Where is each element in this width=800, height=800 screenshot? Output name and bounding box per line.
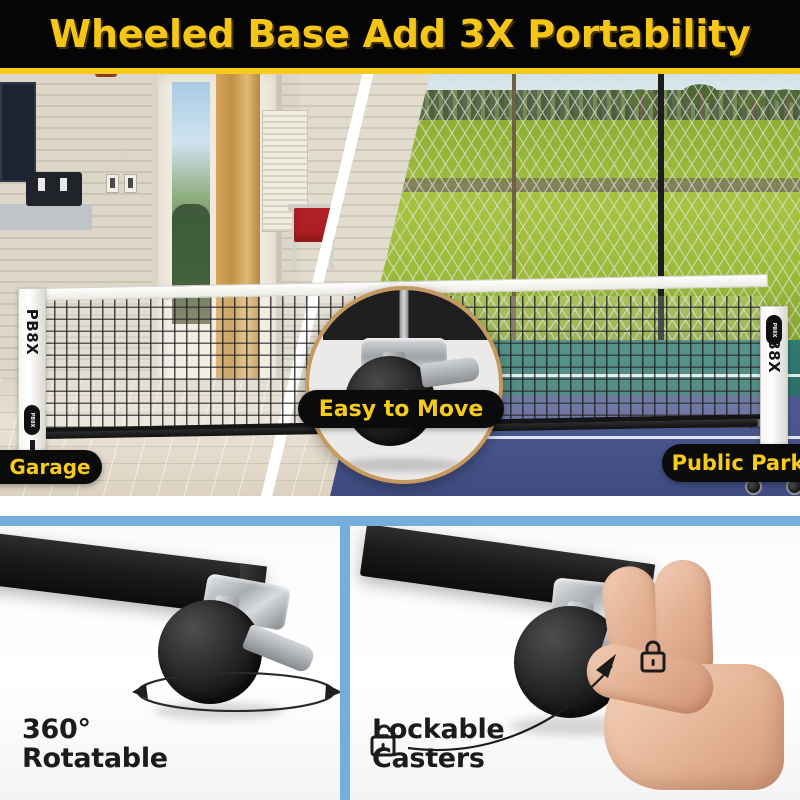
product-infographic: Wheeled Base Add 3X Portability	[0, 0, 800, 800]
light-switch-icon	[124, 174, 137, 193]
brand-badge-text: PB8X	[29, 413, 35, 428]
brand-badge-text: PB8X	[771, 323, 777, 338]
brand-label: PB8X	[23, 309, 41, 355]
light-switch-icon	[106, 174, 119, 193]
garage-tv	[0, 82, 36, 182]
page-title: Wheeled Base Add 3X Portability	[49, 15, 751, 53]
top-scene: PB8X PB8X PB8X PB8X	[0, 74, 800, 496]
brand-badge-icon: PB8X	[24, 405, 40, 435]
vertical-divider	[340, 516, 350, 800]
garage-ceiling-light	[95, 74, 117, 77]
brand-badge-icon: PB8X	[766, 315, 782, 345]
header-yellow-rule	[0, 68, 800, 74]
step-ladder	[288, 204, 340, 270]
easy-to-move-label: Easy to Move	[298, 390, 504, 428]
toolbox-icon	[26, 172, 82, 206]
horizontal-divider	[0, 516, 800, 526]
net-post-left: PB8X PB8X	[18, 288, 46, 452]
caption-line-2: Rotatable	[22, 745, 168, 774]
caster-wheel-icon	[158, 600, 262, 704]
lock-open-icon	[368, 722, 400, 758]
garage-label: Garage	[0, 450, 102, 484]
caster-assembly	[148, 578, 328, 758]
hand-pressing-brake	[586, 560, 796, 790]
caption-line-1: 360°	[22, 714, 91, 745]
header-banner: Wheeled Base Add 3X Portability	[0, 0, 800, 68]
panel-rotatable: 360° Rotatable	[0, 526, 340, 800]
panel-caption-rotatable: 360° Rotatable	[22, 716, 168, 774]
public-park-label: Public Park	[662, 444, 800, 482]
panel-lockable: Lockable Casters	[350, 526, 800, 800]
caster-closeup-inset	[305, 286, 503, 484]
lock-closed-icon	[638, 638, 668, 674]
garage-counter	[0, 204, 92, 230]
caster-shadow	[341, 458, 461, 472]
